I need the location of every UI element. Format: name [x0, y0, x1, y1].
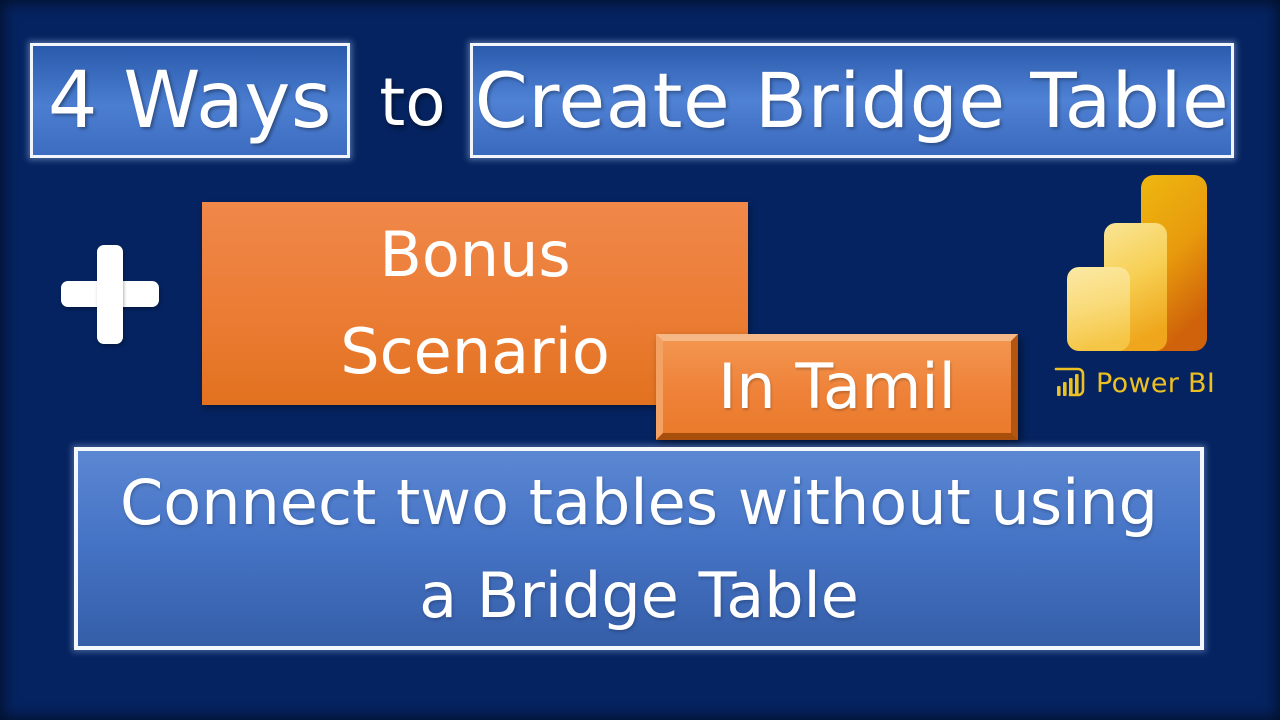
headline-part2-box: Create Bridge Table	[470, 43, 1234, 158]
slide-canvas: 4 Ways to Create Bridge Table Bonus Scen…	[0, 0, 1280, 720]
headline-connector-label: to	[360, 47, 465, 157]
plus-icon-vertical-bar	[97, 245, 123, 344]
plus-icon	[55, 240, 165, 350]
power-bi-chart-icon	[1052, 366, 1086, 400]
power-bi-logo: Power BI	[1048, 170, 1238, 410]
language-badge-label: In Tamil	[718, 356, 956, 418]
power-bi-short-bar	[1067, 267, 1130, 351]
headline-part1-box: 4 Ways	[30, 43, 350, 158]
bonus-line-1: Bonus	[202, 207, 748, 303]
power-bi-wordmark-label: Power BI	[1096, 368, 1215, 399]
power-bi-bars-icon	[1064, 170, 1214, 352]
subtitle-line-1: Connect two tables without using	[78, 456, 1200, 549]
language-badge: In Tamil	[656, 334, 1018, 440]
subtitle-line-2: a Bridge Table	[78, 549, 1200, 642]
headline-part1-label: 4 Ways	[48, 62, 332, 140]
subtitle-box: Connect two tables without using a Bridg…	[74, 447, 1204, 650]
headline-part2-label: Create Bridge Table	[475, 63, 1230, 139]
power-bi-wordmark: Power BI	[1052, 360, 1234, 406]
